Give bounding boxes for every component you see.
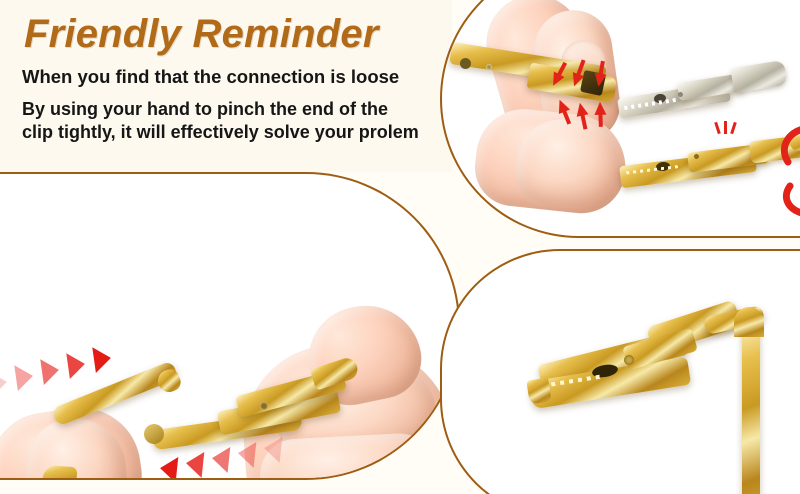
silver-barrel [730, 60, 787, 93]
pinch-demonstration-panel [440, 0, 800, 238]
page-title: Friendly Reminder [24, 12, 379, 57]
chevron-right-icon [0, 369, 9, 397]
chevron-left-icon [185, 450, 205, 478]
subtitle-line: When you find that the connection is loo… [22, 66, 399, 88]
body-text: By using your hand to pinch the end of t… [22, 98, 422, 144]
chevron-right-icon [92, 345, 112, 373]
assembled-rod-elbow [734, 307, 764, 337]
reminder-text-block: Friendly Reminder When you find that the… [0, 0, 452, 172]
insertion-demonstration-panel [0, 172, 460, 480]
chevron-left-icon [263, 435, 283, 463]
chevron-left-icon [211, 445, 231, 473]
spark-mark [714, 122, 721, 134]
clip-hole [459, 57, 472, 70]
chevron-right-icon [40, 357, 60, 385]
chevron-left-icon [159, 455, 179, 480]
spark-mark [730, 122, 737, 134]
poster-canvas: Friendly Reminder When you find that the… [0, 0, 800, 494]
curved-arrow-icon [760, 112, 800, 224]
chevron-right-icon [66, 351, 86, 379]
assembled-result-panel [440, 249, 800, 494]
spark-mark [724, 121, 727, 134]
assembled-clip-tip [526, 377, 551, 404]
chevron-right-icon [14, 363, 34, 391]
assembled-rod-vertical [742, 323, 760, 494]
chevron-left-icon [237, 440, 257, 468]
